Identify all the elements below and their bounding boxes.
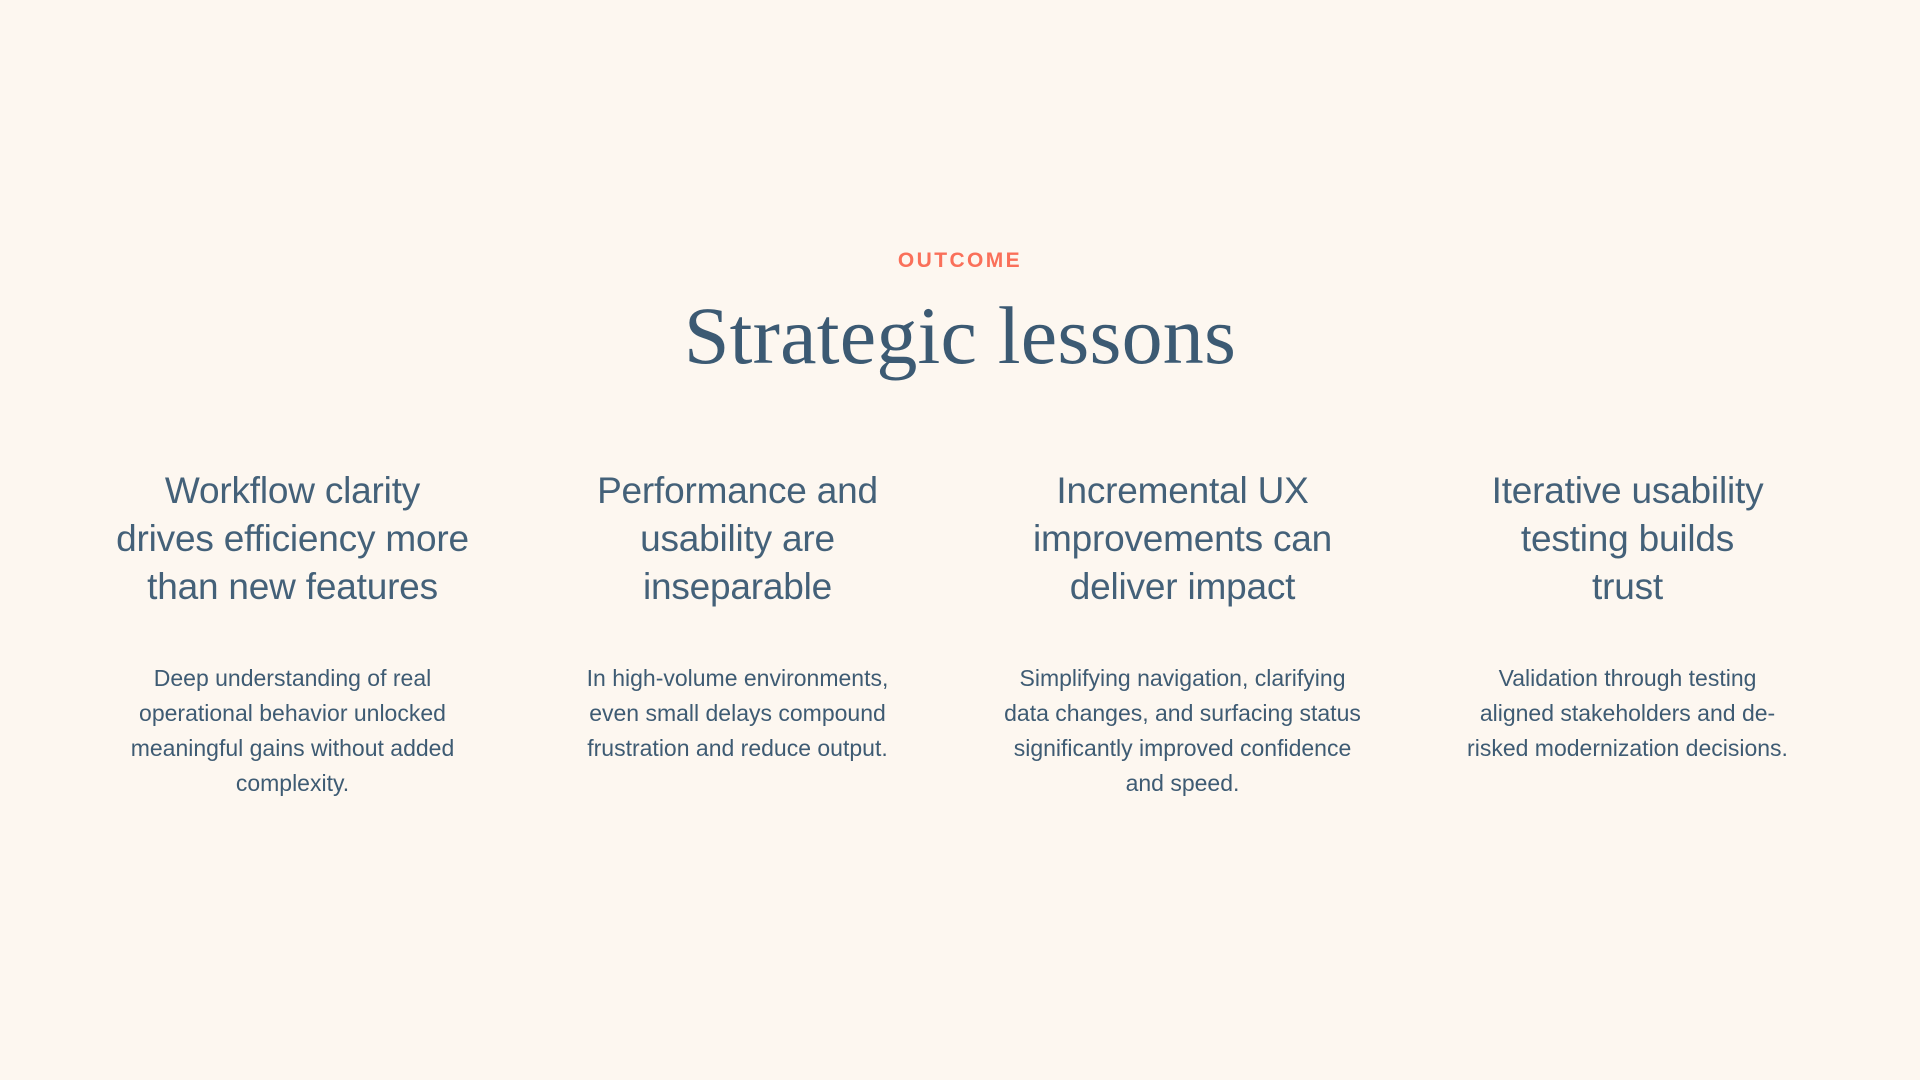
slide: OUTCOME Strategic lessons Workflow clari…	[0, 0, 1920, 1080]
lesson-description: In high-volume environments, even small …	[568, 661, 908, 766]
lesson-column: Workflow clarity drives efficiency more …	[70, 467, 515, 801]
section-eyebrow-label: OUTCOME	[0, 250, 1920, 271]
lesson-column: Iterative usability testing builds trust…	[1405, 467, 1850, 766]
lesson-description: Deep understanding of real operational b…	[128, 661, 458, 801]
lesson-title: Iterative usability testing builds trust	[1492, 467, 1764, 611]
lesson-description: Simplifying navigation, clarifying data …	[1002, 661, 1363, 801]
lesson-column: Performance and usability are inseparabl…	[515, 467, 960, 766]
lesson-description: Validation through testing aligned stake…	[1463, 661, 1793, 766]
lesson-column: Incremental UX improvements can deliver …	[960, 467, 1405, 801]
header: OUTCOME Strategic lessons	[0, 250, 1920, 379]
lessons-columns: Workflow clarity drives efficiency more …	[70, 467, 1850, 801]
page-title: Strategic lessons	[0, 293, 1920, 379]
lesson-title: Workflow clarity drives efficiency more …	[112, 467, 473, 611]
lesson-title: Incremental UX improvements can deliver …	[1023, 467, 1343, 611]
lesson-title: Performance and usability are inseparabl…	[588, 467, 888, 611]
